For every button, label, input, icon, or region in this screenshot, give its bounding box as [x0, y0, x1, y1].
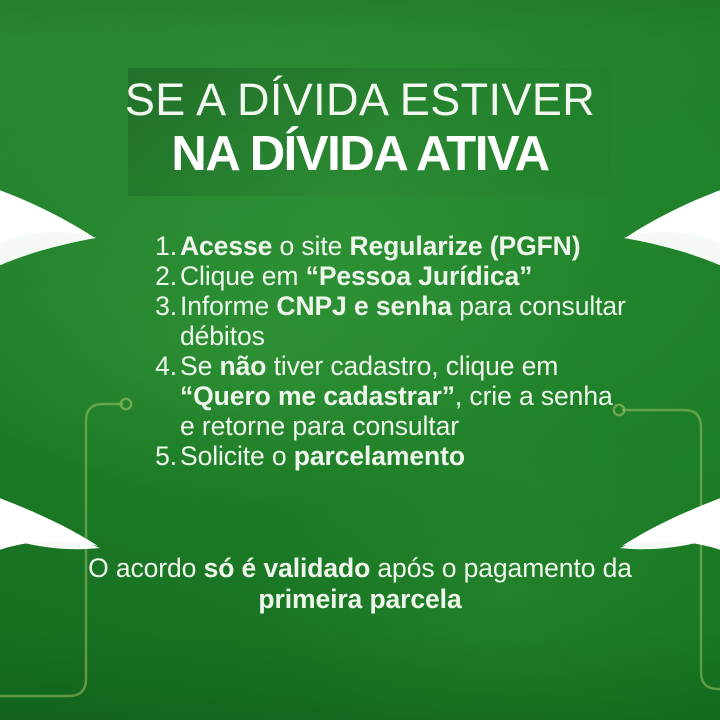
list-item-number: 5.	[152, 441, 177, 471]
footer-note: O acordo só é validado após o pagamento …	[60, 553, 660, 615]
plain-text: tiver cadastro, clique em	[266, 351, 558, 381]
emphasis-text: não	[219, 351, 266, 381]
list-item-text: Solicite o parcelamento	[177, 441, 632, 471]
list-item: 5.Solicite o parcelamento	[152, 441, 632, 471]
list-item-number: 4.	[152, 351, 177, 381]
emphasis-text: “Pessoa Jurídica”	[306, 261, 533, 291]
list-item-number: 2.	[152, 261, 177, 291]
title-line-1: SE A DÍVIDA ESTIVER	[0, 74, 720, 126]
background-band-bottom	[0, 630, 720, 720]
plain-text: após o pagamento da	[370, 553, 632, 583]
emphasis-text: só é validado	[204, 553, 371, 583]
background-band-top	[0, 0, 720, 40]
list-item: 1.Acesse o site Regularize (PGFN)	[152, 231, 632, 261]
list-item: 4.Se não tiver cadastro, clique em “Quer…	[152, 351, 632, 441]
page-title: SE A DÍVIDA ESTIVER NA DÍVIDA ATIVA	[0, 74, 720, 182]
list-item-text: Se não tiver cadastro, clique em “Quero …	[177, 351, 632, 441]
list-item-number: 3.	[152, 291, 177, 321]
emphasis-text: “Quero me cadastrar”	[180, 381, 455, 411]
plain-text: Clique em	[180, 261, 306, 291]
plain-text: O acordo	[88, 553, 203, 583]
list-item-text: Clique em “Pessoa Jurídica”	[177, 261, 632, 291]
emphasis-text: Regularize (PGFN)	[350, 231, 581, 261]
list-item: 2.Clique em “Pessoa Jurídica”	[152, 261, 632, 291]
emphasis-text: primeira parcela	[258, 584, 461, 614]
list-item-number: 1.	[152, 231, 177, 261]
poster-canvas: SE A DÍVIDA ESTIVER NA DÍVIDA ATIVA 1.Ac…	[0, 0, 720, 720]
plain-text: Informe	[180, 291, 276, 321]
steps-list: 1.Acesse o site Regularize (PGFN)2.Cliqu…	[152, 231, 632, 471]
plain-text: Solicite o	[180, 441, 294, 471]
list-item-text: Informe CNPJ e senha para consultar débi…	[177, 291, 632, 351]
list-item: 3.Informe CNPJ e senha para consultar dé…	[152, 291, 632, 351]
emphasis-text: parcelamento	[294, 441, 465, 471]
emphasis-text: Acesse	[180, 231, 272, 261]
plain-text: o site	[272, 231, 349, 261]
plain-text: Se	[180, 351, 219, 381]
title-line-2: NA DÍVIDA ATIVA	[0, 126, 720, 182]
list-item-text: Acesse o site Regularize (PGFN)	[177, 231, 632, 261]
emphasis-text: CNPJ e senha	[276, 291, 452, 321]
